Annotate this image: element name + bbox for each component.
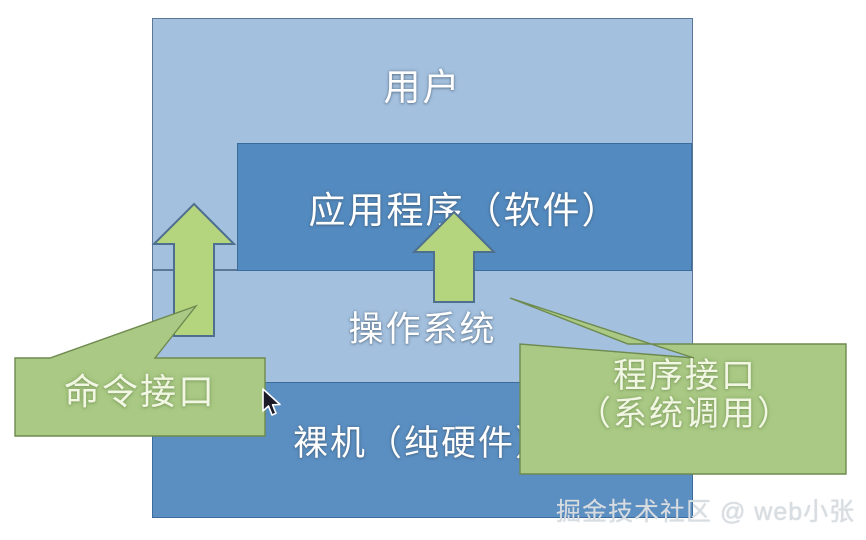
callout-command-interface: [0, 296, 280, 444]
program-interface-arrow-icon: [410, 208, 498, 304]
diagram-canvas: 用户 操作系统 裸机（纯硬件） 应用程序（软件） 命令接口 程序接口: [0, 0, 866, 540]
layer-os-label: 操作系统: [348, 301, 496, 352]
callout-program-interface-label: 程序接口 （系统调用）: [520, 358, 850, 434]
callout-command-interface-label: 命令接口: [15, 372, 265, 412]
mouse-cursor-icon: [262, 388, 284, 420]
watermark: 掘金技术社区 @ web小张: [556, 492, 855, 528]
layer-user-label: 用户: [384, 57, 462, 111]
callout-program-interface-line1: 程序接口: [520, 358, 850, 396]
callout-program-interface-line2: （系统调用）: [520, 396, 850, 434]
